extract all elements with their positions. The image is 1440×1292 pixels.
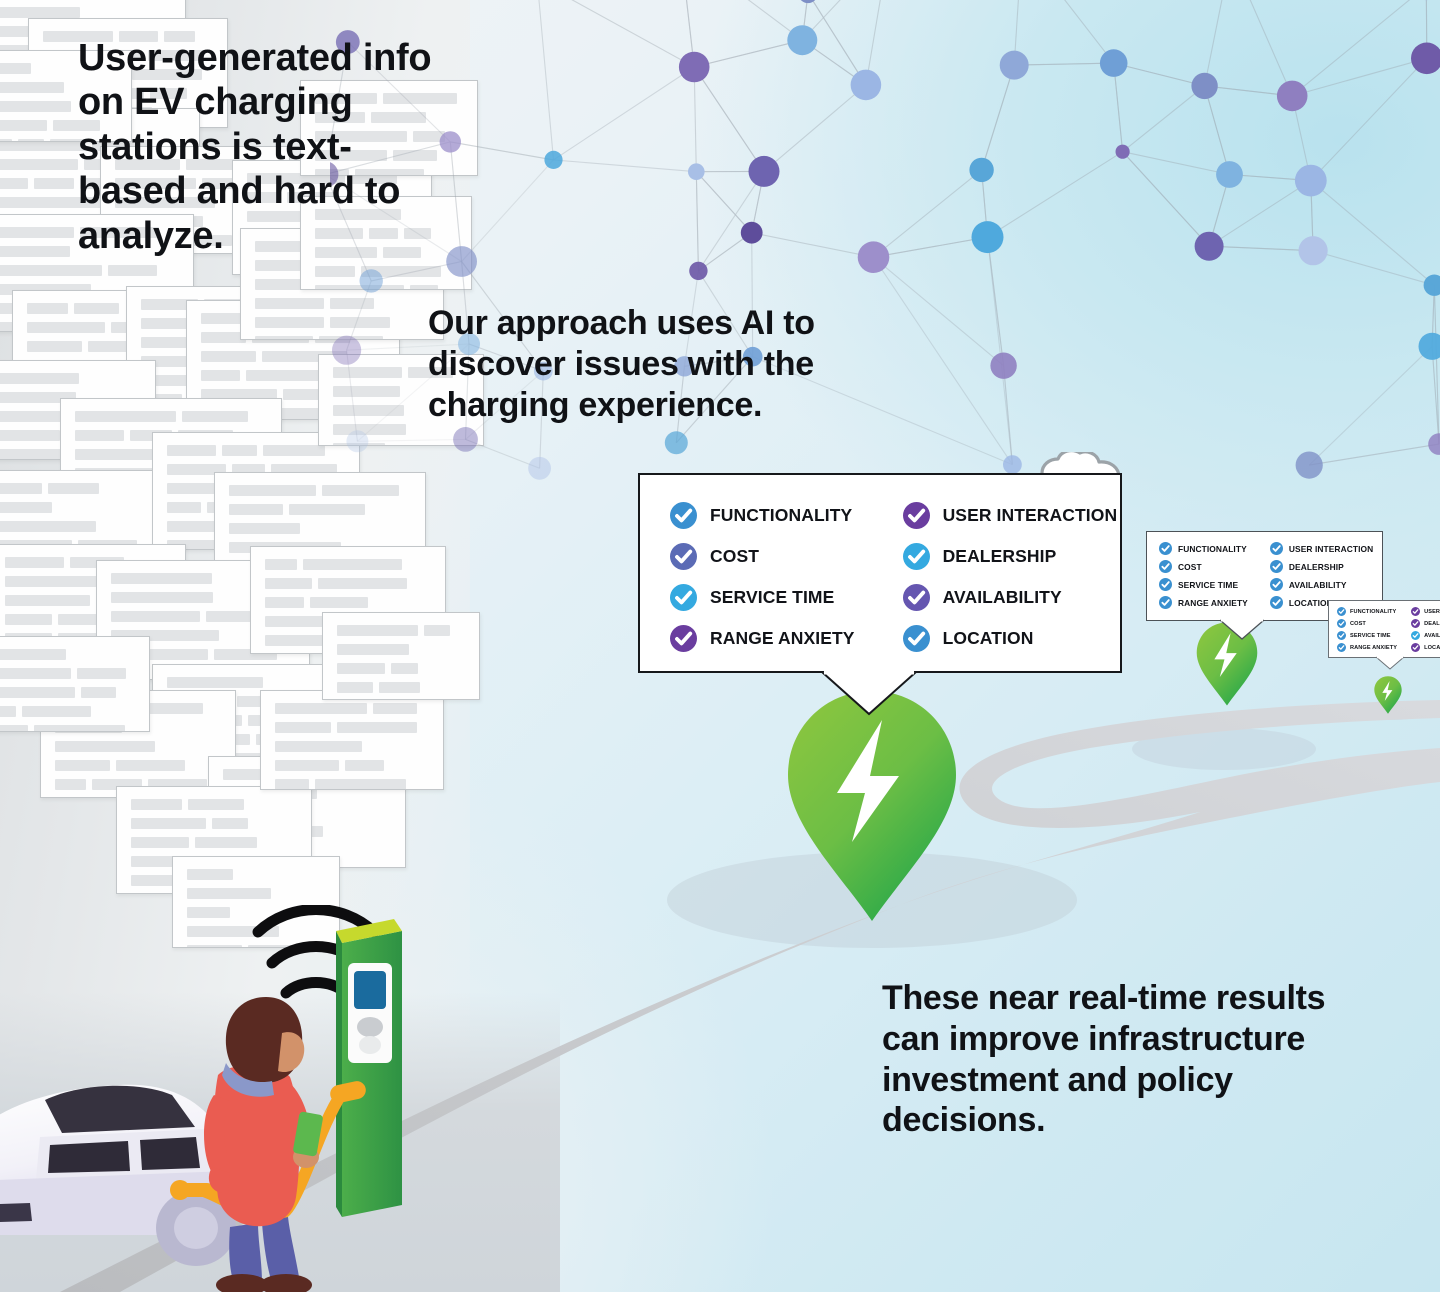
callout-2-left-column: FUNCTIONALITYCOSTSERVICE TIMERANGE ANXIE…	[1159, 542, 1248, 609]
checklist-item-label: USER INTERACTION	[943, 505, 1118, 526]
checklist-item-label: FUNCTIONALITY	[1350, 609, 1396, 615]
check-icon	[1337, 631, 1346, 640]
checklist-item-label: USER INTERACTION	[1289, 544, 1373, 554]
network-node	[446, 246, 477, 277]
network-node	[1296, 452, 1323, 479]
check-icon	[1159, 542, 1172, 555]
checklist-item[interactable]: DEALERSHIP	[1270, 560, 1373, 573]
checklist-item[interactable]: DEALERSHIP	[1411, 619, 1440, 628]
checklist-item[interactable]: RANGE ANXIETY	[670, 625, 855, 652]
checklist-item-label: USER INTERACTION	[1424, 609, 1440, 615]
check-icon	[903, 584, 930, 611]
map-pin-near[interactable]	[786, 690, 958, 922]
checklist-item-label: SERVICE TIME	[1350, 633, 1391, 639]
callout-main-tail	[821, 670, 917, 716]
checklist-item[interactable]: COST	[1159, 560, 1248, 573]
checklist-item-label: AVAILABILITY	[1289, 580, 1347, 590]
checklist-item-label: SERVICE TIME	[1178, 580, 1238, 590]
check-icon	[1270, 596, 1283, 609]
infographic-canvas: FUNCTIONALITYCOSTSERVICE TIMERANGE ANXIE…	[0, 0, 1440, 1292]
checklist-item[interactable]: COST	[1337, 619, 1397, 628]
network-node	[858, 241, 890, 273]
callout-2-right-column: USER INTERACTIONDEALERSHIPAVAILABILITYLO…	[1270, 542, 1373, 609]
check-icon	[670, 502, 697, 529]
ev-charging-station	[336, 919, 402, 1217]
checklist-item[interactable]: AVAILABILITY	[1270, 578, 1373, 591]
checklist-item-label: RANGE ANXIETY	[710, 628, 855, 649]
charger-screen	[354, 971, 386, 1009]
network-node	[688, 163, 705, 180]
network-node	[1277, 81, 1308, 112]
check-icon	[1337, 643, 1346, 652]
network-node	[679, 52, 710, 83]
checklist-item-label: LOCATION	[943, 628, 1034, 649]
check-icon	[1270, 560, 1283, 573]
check-icon	[1411, 607, 1420, 616]
check-icon	[1411, 631, 1420, 640]
network-node	[528, 457, 551, 480]
network-node	[453, 427, 478, 452]
map-pin-far[interactable]	[1374, 676, 1402, 714]
network-node	[440, 131, 461, 152]
network-node	[689, 262, 707, 280]
check-icon	[903, 625, 930, 652]
check-icon	[670, 543, 697, 570]
callout-box-main[interactable]: FUNCTIONALITYCOSTSERVICE TIMERANGE ANXIE…	[638, 473, 1122, 673]
check-icon	[670, 625, 697, 652]
checklist-item[interactable]: RANGE ANXIETY	[1337, 643, 1397, 652]
network-node	[798, 0, 818, 3]
check-icon	[1337, 619, 1346, 628]
checklist-item-label: AVAILABILITY	[943, 587, 1062, 608]
document-card	[260, 690, 444, 790]
network-node	[990, 353, 1016, 379]
checklist-item-label: COST	[1178, 562, 1202, 572]
checklist-item[interactable]: AVAILABILITY	[1411, 631, 1440, 640]
check-icon	[1411, 643, 1420, 652]
checklist-item-label: COST	[1350, 621, 1366, 627]
network-node	[972, 221, 1004, 253]
checklist-item[interactable]: SERVICE TIME	[1159, 578, 1248, 591]
network-node	[1411, 43, 1440, 75]
ev-charging-illustration	[0, 905, 430, 1292]
checklist-item[interactable]: FUNCTIONALITY	[1159, 542, 1248, 555]
checklist-item[interactable]: LOCATION	[903, 625, 1118, 652]
callout-main-left-column: FUNCTIONALITYCOSTSERVICE TIMERANGE ANXIE…	[670, 502, 855, 652]
network-node	[741, 222, 763, 244]
check-icon	[1159, 596, 1172, 609]
checklist-item[interactable]: USER INTERACTION	[903, 502, 1118, 529]
network-node	[1191, 73, 1217, 99]
checklist-item-label: RANGE ANXIETY	[1350, 645, 1397, 651]
check-icon	[1270, 542, 1283, 555]
headline-bottom-right: These near real-time results can improve…	[882, 978, 1392, 1141]
electric-car	[0, 1085, 236, 1266]
network-node	[1216, 161, 1243, 188]
checklist-item[interactable]: DEALERSHIP	[903, 543, 1118, 570]
check-icon	[903, 502, 930, 529]
callout-2-tail	[1220, 619, 1264, 641]
check-icon	[1159, 560, 1172, 573]
network-node	[360, 269, 383, 292]
checklist-item-label: AVAILABILITY	[1424, 633, 1440, 639]
headline-middle: Our approach uses AI to discover issues …	[428, 303, 928, 425]
checklist-item[interactable]: FUNCTIONALITY	[670, 502, 855, 529]
checklist-item[interactable]: USER INTERACTION	[1411, 607, 1440, 616]
check-icon	[1411, 619, 1420, 628]
checklist-item-label: DEALERSHIP	[943, 546, 1057, 567]
checklist-item-label: SERVICE TIME	[710, 587, 834, 608]
network-node	[1003, 455, 1022, 474]
check-icon	[903, 543, 930, 570]
callout-3-tail	[1376, 656, 1404, 671]
checklist-item[interactable]: RANGE ANXIETY	[1159, 596, 1248, 609]
network-node	[1299, 236, 1328, 265]
checklist-item[interactable]: LOCATION	[1411, 643, 1440, 652]
checklist-item[interactable]: COST	[670, 543, 855, 570]
checklist-item-label: RANGE ANXIETY	[1178, 598, 1248, 608]
network-node	[544, 151, 562, 169]
check-icon	[670, 584, 697, 611]
checklist-item[interactable]: AVAILABILITY	[903, 584, 1118, 611]
document-card	[322, 612, 480, 700]
checklist-item[interactable]: SERVICE TIME	[670, 584, 855, 611]
check-icon	[1270, 578, 1283, 591]
callout-box-tertiary[interactable]: FUNCTIONALITYCOSTSERVICE TIMERANGE ANXIE…	[1328, 600, 1440, 658]
network-node	[332, 336, 361, 365]
checklist-item-label: DEALERSHIP	[1424, 621, 1440, 627]
checklist-item-label: LOCATION	[1424, 645, 1440, 651]
network-node	[1116, 145, 1130, 159]
check-icon	[1159, 578, 1172, 591]
network-node	[1428, 433, 1440, 455]
callout-3-left-column: FUNCTIONALITYCOSTSERVICE TIMERANGE ANXIE…	[1337, 607, 1397, 652]
network-node	[787, 25, 817, 55]
checklist-item-label: DEALERSHIP	[1289, 562, 1344, 572]
network-node	[1295, 165, 1327, 197]
network-node	[1195, 232, 1224, 261]
document-card	[0, 636, 150, 732]
checklist-item[interactable]: USER INTERACTION	[1270, 542, 1373, 555]
checklist-item-label: FUNCTIONALITY	[710, 505, 852, 526]
checklist-item-label: COST	[710, 546, 759, 567]
network-node	[749, 156, 780, 187]
check-icon	[1337, 607, 1346, 616]
checklist-item[interactable]: SERVICE TIME	[1337, 631, 1397, 640]
network-node	[969, 158, 993, 182]
checklist-item-label: FUNCTIONALITY	[1178, 544, 1247, 554]
callout-main-right-column: USER INTERACTIONDEALERSHIPAVAILABILITYLO…	[903, 502, 1118, 652]
network-node	[1100, 49, 1128, 77]
network-node	[346, 430, 368, 452]
network-node	[665, 431, 688, 454]
network-node	[1000, 51, 1029, 80]
headline-top-left: User-generated info on EV charging stati…	[78, 36, 438, 258]
network-node	[851, 70, 882, 101]
checklist-item-label: LOCATION	[1289, 598, 1333, 608]
checklist-item[interactable]: FUNCTIONALITY	[1337, 607, 1397, 616]
callout-3-right-column: USER INTERACTIONDEALERSHIPAVAILABILITYLO…	[1411, 607, 1440, 652]
